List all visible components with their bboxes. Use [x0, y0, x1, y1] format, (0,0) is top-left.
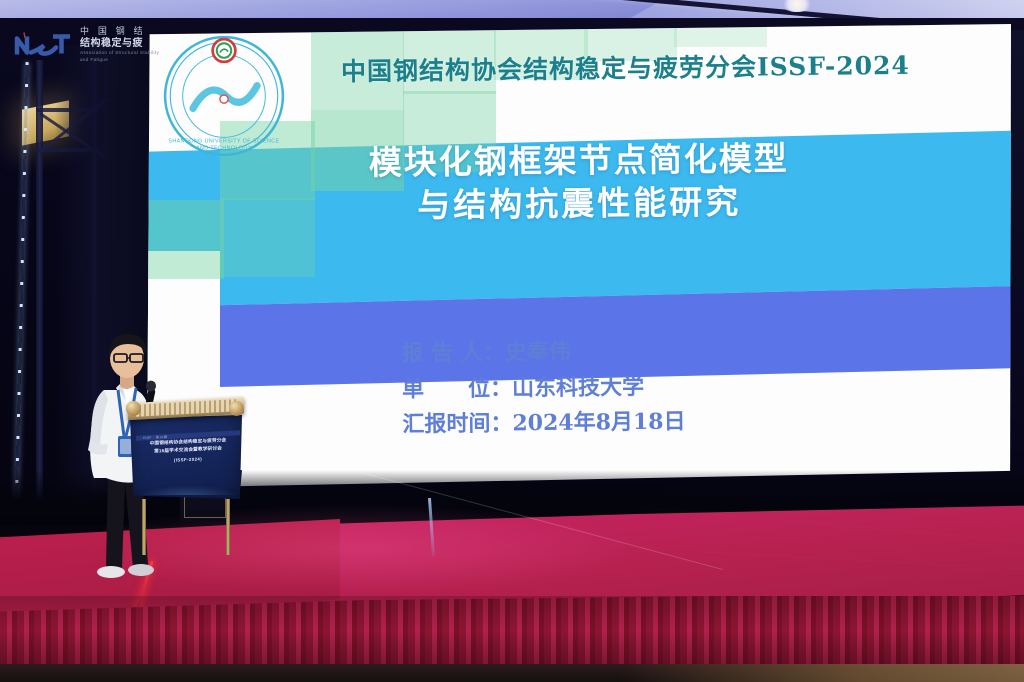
info-value: 2024年8月18日	[512, 409, 685, 437]
lectern: ISSF · 第16届 中国钢结构协会结构稳定与疲劳分会 第16届学术交流会暨教…	[128, 400, 244, 578]
conference-stage-photo: SHANDONG UNIVERSITY OF SCIENCE AND TECHN…	[0, 0, 1024, 682]
broadcast-watermark: 中 国 钢 结 结构稳定与疲 Association of Structural…	[14, 24, 164, 66]
info-value: 史奉伟	[505, 340, 571, 366]
university-seal-logo: SHANDONG UNIVERSITY OF SCIENCE AND TECHN…	[162, 34, 286, 158]
lectern-sign-glow	[136, 485, 240, 495]
watermark-line-2: 结构稳定与疲	[80, 38, 164, 50]
info-label: 报 告 人：	[401, 335, 505, 372]
nst-logo-icon	[14, 30, 74, 60]
info-row-affiliation: 单 位：山东科技大学	[402, 369, 686, 408]
info-row-date: 汇报时间：2024年8月18日	[402, 405, 686, 444]
watermark-line-1: 中 国 钢 结	[80, 27, 164, 38]
auditorium-floor-wood	[620, 664, 1024, 682]
lectern-leg	[226, 499, 230, 555]
watermark-line-3: Association of Structural Stability and …	[80, 50, 164, 63]
lectern-knob	[229, 401, 244, 416]
lectern-leg	[142, 499, 146, 555]
lectern-sign-panel: ISSF · 第16届 中国钢结构协会结构稳定与疲劳分会 第16届学术交流会暨教…	[130, 415, 242, 499]
info-label: 单 位：	[402, 371, 512, 408]
lectern-sign-text: ISSF · 第16届 中国钢结构协会结构稳定与疲劳分会 第16届学术交流会暨教…	[134, 431, 242, 468]
info-row-presenter: 报 告 人：史奉伟	[401, 333, 685, 372]
projection-screen: SHANDONG UNIVERSITY OF SCIENCE AND TECHN…	[147, 24, 1011, 488]
slide-main-title: 模块化钢框架节点简化模型 与结构抗震性能研究	[147, 135, 1011, 230]
info-label: 汇报时间：	[402, 406, 512, 443]
lectern-knob	[126, 401, 141, 416]
slide-conference-header: 中国钢结构协会结构稳定与疲劳分会ISSF-2024	[341, 46, 910, 88]
lectern-legs	[138, 499, 234, 555]
truss-column	[36, 60, 43, 520]
info-value: 山东科技大学	[512, 374, 644, 400]
slide-presenter-info: 报 告 人：史奉伟 单 位：山东科技大学 汇报时间：2024年8月18日	[401, 333, 685, 443]
